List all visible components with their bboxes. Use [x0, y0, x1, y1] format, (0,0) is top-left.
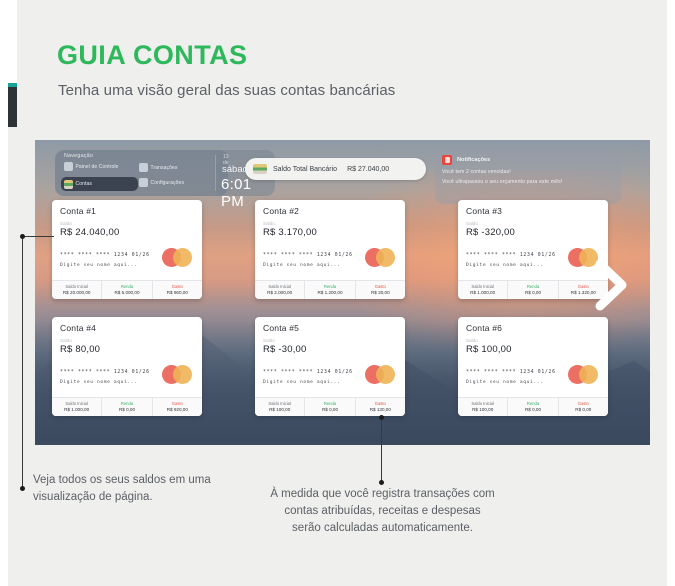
initial-balance-cell: Saldo Inicial R$ 1.000,00: [458, 281, 508, 299]
account-card[interactable]: Conta #6 Saldo R$ 100,00 **** **** **** …: [458, 317, 608, 416]
income-cell: Renda R$ 5.000,00: [102, 281, 152, 299]
income-value: R$ 5.000,00: [102, 290, 151, 295]
expense-cell: Gasto R$ 960,00: [153, 281, 202, 299]
initial-balance-label: Saldo Inicial: [458, 284, 507, 289]
income-label: Renda: [102, 284, 151, 289]
leader-line-horizontal: [22, 236, 54, 237]
sidebar-item-transacoes[interactable]: Transações: [139, 163, 209, 172]
initial-balance-label: Saldo Inicial: [255, 284, 304, 289]
credit-card-visual: **** **** **** 1234 01/26 Digite seu nom…: [60, 242, 194, 276]
balance-label: Saldo: [466, 338, 600, 343]
mastercard-icon: [162, 248, 192, 267]
expense-value: R$ 30,00: [356, 290, 405, 295]
income-cell: Renda R$ 0,00: [102, 398, 152, 416]
account-card-body: Conta #1 Saldo R$ 24.040,00 **** **** **…: [52, 200, 202, 280]
notifications-title: Notificações: [457, 157, 490, 163]
sidebar-item-label: Painel de Controle: [76, 164, 119, 170]
navigation-widget: Navegação Painel de Controle Contas Tran…: [55, 150, 228, 196]
expense-label: Gasto: [356, 284, 405, 289]
sidebar-item-label: Configurações: [151, 180, 185, 186]
card-number: **** **** **** 1234 01/26: [60, 370, 150, 375]
leader-dot: [20, 486, 25, 491]
account-card-body: Conta #4 Saldo R$ 80,00 **** **** **** 1…: [52, 317, 202, 397]
accounts-flag-icon: [253, 164, 267, 174]
account-name: Conta #5: [263, 323, 397, 333]
navigation-label: Navegação: [64, 153, 93, 159]
income-label: Renda: [508, 401, 557, 406]
annotation-right: À medida que você registra transações co…: [270, 486, 495, 537]
account-card[interactable]: Conta #5 Saldo R$ -30,00 **** **** **** …: [255, 317, 405, 416]
initial-balance-label: Saldo Inicial: [52, 284, 101, 289]
expense-value: R$ 0,00: [559, 407, 608, 412]
card-holder-name: Digite seu nome aqui...: [263, 380, 340, 385]
sidebar-item-painel-de-controle[interactable]: Painel de Controle: [64, 162, 136, 171]
initial-balance-cell: Saldo Inicial R$ 100,00: [458, 398, 508, 416]
page-canvas: GUIA CONTAS Tenha uma visão geral das su…: [0, 0, 675, 586]
initial-balance-value: R$ 20.000,00: [52, 290, 101, 295]
account-name: Conta #2: [263, 206, 397, 216]
account-card-body: Conta #3 Saldo R$ -320,00 **** **** ****…: [458, 200, 608, 280]
sidebar-item-contas[interactable]: Contas: [61, 177, 138, 191]
initial-balance-value: R$ 100,00: [458, 407, 507, 412]
mastercard-icon: [162, 365, 192, 384]
left-accent-dark: [8, 87, 17, 127]
account-card-body: Conta #5 Saldo R$ -30,00 **** **** **** …: [255, 317, 405, 397]
expense-value: R$ 130,00: [356, 407, 405, 412]
initial-balance-cell: Saldo Inicial R$ 2.000,00: [255, 281, 305, 299]
card-holder-name: Digite seu nome aqui...: [466, 380, 543, 385]
expense-label: Gasto: [153, 401, 202, 406]
account-card[interactable]: Conta #4 Saldo R$ 80,00 **** **** **** 1…: [52, 317, 202, 416]
page-title: GUIA CONTAS: [57, 40, 247, 71]
initial-balance-value: R$ 100,00: [255, 407, 304, 412]
balance-label: Saldo: [263, 221, 397, 226]
credit-card-visual: **** **** **** 1234 01/26 Digite seu nom…: [466, 242, 600, 276]
total-balance-label: Saldo Total Bancário: [273, 166, 337, 173]
account-card-body: Conta #2 Saldo R$ 3.170,00 **** **** ***…: [255, 200, 405, 280]
mastercard-icon: [365, 248, 395, 267]
notifications-header: Notificações: [442, 155, 614, 165]
leader-dot: [379, 415, 384, 420]
account-balance: R$ 24.040,00: [60, 227, 194, 238]
account-card-body: Conta #6 Saldo R$ 100,00 **** **** **** …: [458, 317, 608, 397]
income-cell: Renda R$ 0,00: [508, 398, 558, 416]
income-label: Renda: [305, 284, 354, 289]
account-name: Conta #1: [60, 206, 194, 216]
income-value: R$ 0,00: [102, 407, 151, 412]
sidebar-item-label: Contas: [76, 181, 92, 187]
chevron-right-icon[interactable]: [592, 258, 632, 312]
account-name: Conta #6: [466, 323, 600, 333]
page-subtitle: Tenha uma visão geral das suas contas ba…: [58, 82, 395, 99]
income-label: Renda: [508, 284, 557, 289]
account-card[interactable]: Conta #2 Saldo R$ 3.170,00 **** **** ***…: [255, 200, 405, 299]
initial-balance-label: Saldo Inicial: [255, 401, 304, 406]
leader-dot: [20, 234, 25, 239]
annotation-left: Veja todos os seus saldos em uma visuali…: [33, 472, 248, 506]
initial-balance-value: R$ 1.000,00: [458, 290, 507, 295]
card-holder-name: Digite seu nome aqui...: [263, 263, 340, 268]
initial-balance-value: R$ 2.000,00: [255, 290, 304, 295]
card-holder-name: Digite seu nome aqui...: [60, 380, 137, 385]
card-holder-name: Digite seu nome aqui...: [466, 263, 543, 268]
right-edge-strip: [667, 0, 675, 586]
expense-label: Gasto: [153, 284, 202, 289]
credit-card-visual: **** **** **** 1234 01/26 Digite seu nom…: [263, 359, 397, 393]
account-card-footer: Saldo Inicial R$ 20.000,00 Renda R$ 5.00…: [52, 280, 202, 299]
account-card-footer: Saldo Inicial R$ 100,00 Renda R$ 0,00 Ga…: [458, 397, 608, 416]
account-card[interactable]: Conta #3 Saldo R$ -320,00 **** **** ****…: [458, 200, 608, 299]
sidebar-item-configuracoes[interactable]: Configurações: [139, 178, 211, 187]
account-balance: R$ -30,00: [263, 344, 397, 355]
account-card-footer: Saldo Inicial R$ 1.000,00 Renda R$ 0,00 …: [52, 397, 202, 416]
card-number: **** **** **** 1234 01/26: [466, 253, 556, 258]
mastercard-icon: [568, 365, 598, 384]
sidebar-item-label: Transações: [151, 165, 178, 171]
initial-balance-cell: Saldo Inicial R$ 1.000,00: [52, 398, 102, 416]
account-card-footer: Saldo Inicial R$ 2.000,00 Renda R$ 1.200…: [255, 280, 405, 299]
notification-message: Você tem 2 contas vencidas!: [442, 169, 614, 175]
initial-balance-cell: Saldo Inicial R$ 20.000,00: [52, 281, 102, 299]
account-card-footer: Saldo Inicial R$ 100,00 Renda R$ 0,00 Ga…: [255, 397, 405, 416]
balance-label: Saldo: [60, 221, 194, 226]
account-balance: R$ 100,00: [466, 344, 600, 355]
balance-label: Saldo: [263, 338, 397, 343]
expense-label: Gasto: [559, 401, 608, 406]
income-cell: Renda R$ 0,00: [305, 398, 355, 416]
account-balance: R$ 80,00: [60, 344, 194, 355]
total-balance-value: R$ 27.040,00: [347, 166, 389, 173]
expense-cell: Gasto R$ 920,00: [153, 398, 202, 416]
leader-dot: [379, 480, 384, 485]
expense-cell: Gasto R$ 30,00: [356, 281, 405, 299]
notifications-panel[interactable]: Notificações Você tem 2 contas vencidas!…: [435, 150, 621, 204]
mastercard-icon: [365, 365, 395, 384]
account-name: Conta #4: [60, 323, 194, 333]
expense-cell: Gasto R$ 130,00: [356, 398, 405, 416]
account-balance: R$ -320,00: [466, 227, 600, 238]
initial-balance-label: Saldo Inicial: [52, 401, 101, 406]
account-name: Conta #3: [466, 206, 600, 216]
expense-cell: Gasto R$ 0,00: [559, 398, 608, 416]
card-holder-name: Digite seu nome aqui...: [60, 263, 137, 268]
notification-icon: [442, 155, 452, 165]
account-card[interactable]: Conta #1 Saldo R$ 24.040,00 **** **** **…: [52, 200, 202, 299]
credit-card-visual: **** **** **** 1234 01/26 Digite seu nom…: [466, 359, 600, 393]
income-value: R$ 1.200,00: [305, 290, 354, 295]
card-number: **** **** **** 1234 01/26: [263, 370, 353, 375]
left-edge-strip: [0, 0, 8, 586]
credit-card-visual: **** **** **** 1234 01/26 Digite seu nom…: [60, 359, 194, 393]
accounts-flag-icon: [64, 180, 73, 189]
expense-value: R$ 920,00: [153, 407, 202, 412]
expense-value: R$ 960,00: [153, 290, 202, 295]
leader-line-vertical: [22, 236, 23, 488]
nav-clock: 6:01 PM: [221, 176, 251, 210]
balance-label: Saldo: [60, 338, 194, 343]
initial-balance-cell: Saldo Inicial R$ 100,00: [255, 398, 305, 416]
account-card-footer: Saldo Inicial R$ 1.000,00 Renda R$ 0,00 …: [458, 280, 608, 299]
total-balance-pill: Saldo Total Bancário R$ 27.040,00: [245, 158, 426, 180]
initial-balance-value: R$ 1.000,00: [52, 407, 101, 412]
leader-line-vertical: [381, 417, 382, 482]
nav-divider: [215, 155, 216, 191]
notification-message: Você ultrapassou o seu orçamento para es…: [442, 179, 614, 185]
dashboard-icon: [64, 162, 73, 171]
expense-label: Gasto: [356, 401, 405, 406]
initial-balance-label: Saldo Inicial: [458, 401, 507, 406]
income-value: R$ 0,00: [508, 407, 557, 412]
gear-icon: [139, 178, 148, 187]
income-label: Renda: [305, 401, 354, 406]
income-value: R$ 0,00: [305, 407, 354, 412]
balance-label: Saldo: [466, 221, 600, 226]
income-cell: Renda R$ 1.200,00: [305, 281, 355, 299]
credit-card-visual: **** **** **** 1234 01/26 Digite seu nom…: [263, 242, 397, 276]
card-number: **** **** **** 1234 01/26: [60, 253, 150, 258]
income-cell: Renda R$ 0,00: [508, 281, 558, 299]
transactions-icon: [139, 163, 148, 172]
income-value: R$ 0,00: [508, 290, 557, 295]
left-accent-white: [8, 0, 17, 83]
card-number: **** **** **** 1234 01/26: [263, 253, 353, 258]
income-label: Renda: [102, 401, 151, 406]
account-balance: R$ 3.170,00: [263, 227, 397, 238]
card-number: **** **** **** 1234 01/26: [466, 370, 556, 375]
